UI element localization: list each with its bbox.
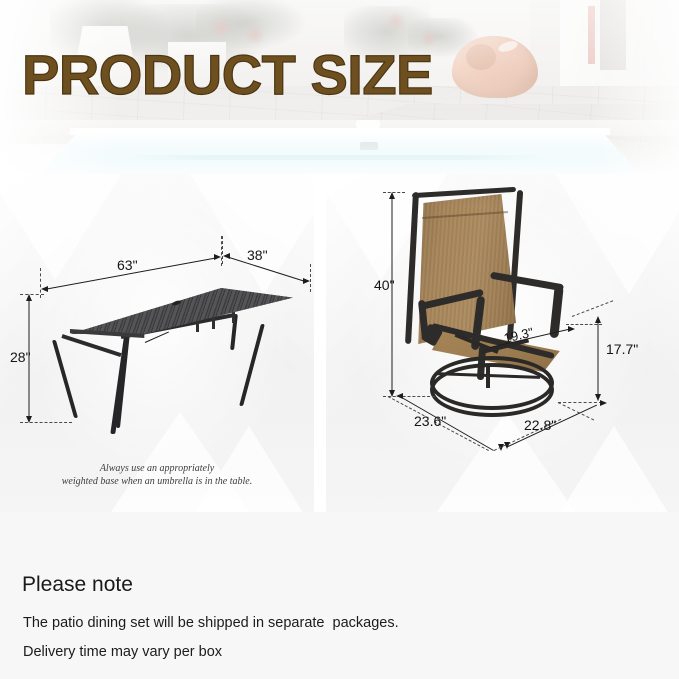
dimension-arrow [26, 294, 32, 301]
table-leg [239, 324, 265, 406]
product-size-infographic: PRODUCT SIZE [0, 0, 679, 679]
dimension-arrow [26, 416, 32, 423]
please-note-line-1: The patio dining set will be shipped in … [23, 616, 399, 631]
dimension-label-seat-height: 17.7" [606, 342, 638, 356]
dimension-extension-line [222, 236, 223, 264]
chair-illustration: 40" 19.3" 17.7" 23.6" [326, 174, 679, 512]
chair-back-rail [405, 192, 419, 344]
product-panels: 63" 38" 28" Always use an approp [0, 174, 679, 512]
hero-banner: PRODUCT SIZE [0, 0, 679, 174]
table-top-edge [41, 329, 293, 338]
dimension-arrow [396, 393, 403, 399]
dimension-line-chair-height [392, 197, 393, 395]
dimension-arrow [389, 390, 395, 397]
dimension-extension-line [20, 294, 44, 295]
please-note-section: Please note The patio dining set will be… [0, 512, 679, 679]
table-caption: Always use an appropriately weighted bas… [0, 462, 314, 488]
dimension-extension-line [310, 264, 311, 292]
dimension-label-chair-height: 40" [374, 278, 395, 292]
hero-fade-right [589, 0, 679, 174]
dimension-arrow [595, 316, 601, 323]
table-panel: 63" 38" 28" Always use an approp [0, 174, 314, 512]
table-caption-line-1: Always use an appropriately [0, 462, 314, 475]
dimension-arrow [223, 253, 230, 259]
dimension-label-overall-width: 22.8" [524, 418, 556, 432]
dimension-arrow [41, 286, 48, 292]
dimension-arrow [504, 442, 510, 449]
dimension-arrow [568, 326, 575, 332]
please-note-line-2: Delivery time may vary per box [23, 645, 222, 660]
hero-title: PRODUCT SIZE [22, 47, 433, 103]
chair-panel: 40" 19.3" 17.7" 23.6" [326, 174, 679, 512]
dimension-arrow [600, 400, 607, 406]
dimension-arrow [389, 192, 395, 199]
dimension-line-seat-height [598, 321, 599, 401]
dimension-label-width: 63" [117, 258, 138, 272]
table-top-slats [41, 288, 293, 334]
chair-swivel-base-ring-lower [430, 363, 554, 417]
dimension-extension-line [572, 300, 613, 317]
dimension-extension-line [558, 402, 594, 420]
dimension-arrow [303, 278, 310, 284]
table-apron [61, 334, 121, 357]
dimension-arrow [214, 254, 221, 260]
dimension-label-height: 28" [10, 350, 31, 364]
dimension-extension-line [558, 402, 602, 403]
table-leg [52, 340, 78, 418]
dimension-label-overall-depth: 23.6" [414, 414, 446, 428]
table-caption-line-2: weighted base when an umbrella is in the… [0, 475, 314, 488]
dimension-label-depth: 38" [247, 248, 268, 262]
please-note-heading: Please note [22, 574, 133, 595]
